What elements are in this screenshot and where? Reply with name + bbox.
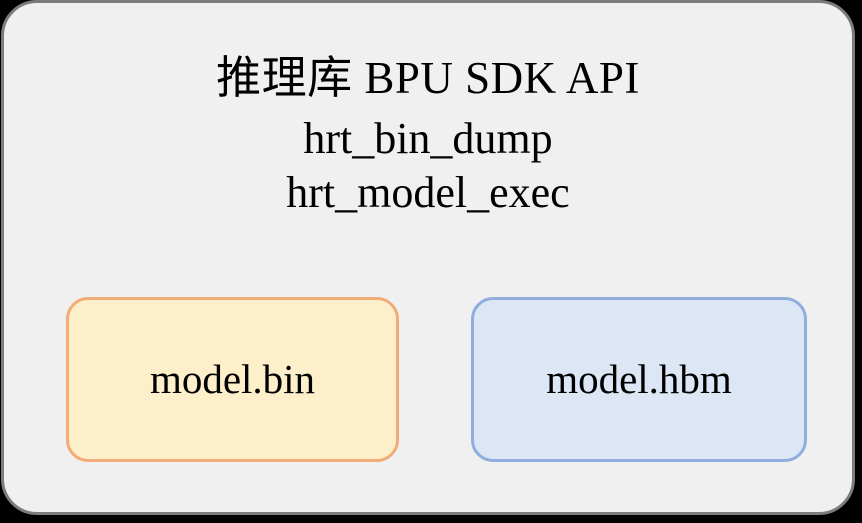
inference-library-container: 推理库 BPU SDK API hrt_bin_dump hrt_model_e… [1,0,855,515]
node-model-hbm[interactable]: model.hbm [471,297,807,462]
title-line-hrt-model-exec: hrt_model_exec [4,171,852,215]
container-title-block: 推理库 BPU SDK API hrt_bin_dump hrt_model_e… [4,56,852,215]
title-line-sdk-api: 推理库 BPU SDK API [4,56,852,117]
title-line-hrt-bin-dump: hrt_bin_dump [4,117,852,171]
node-model-bin-label: model.bin [150,359,315,400]
node-model-bin[interactable]: model.bin [66,297,399,462]
node-model-hbm-label: model.hbm [546,359,732,400]
diagram-canvas: 推理库 BPU SDK API hrt_bin_dump hrt_model_e… [0,0,862,523]
